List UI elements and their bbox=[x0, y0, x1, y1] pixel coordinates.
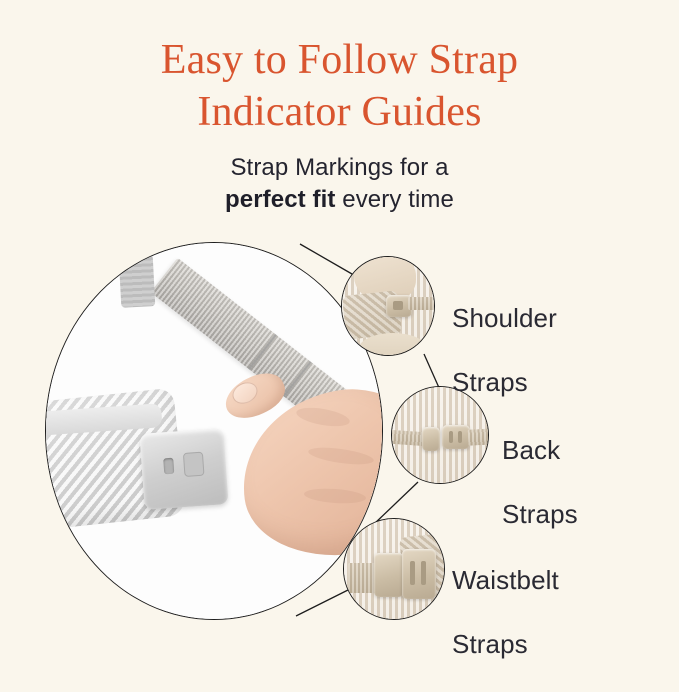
label-shoulder-line-2: Straps bbox=[452, 366, 557, 398]
strap-indicator-mark-2 bbox=[283, 361, 312, 397]
main-product-photo bbox=[45, 242, 383, 620]
back-buckle-slot-2 bbox=[458, 431, 462, 443]
page-title: Easy to Follow Strap Indicator Guides bbox=[0, 34, 679, 138]
shoulder-webbing bbox=[408, 297, 435, 310]
back-buckle-slot-1 bbox=[449, 431, 453, 443]
label-waistbelt-straps: Waistbelt Straps bbox=[452, 532, 559, 692]
callout-waistbelt-straps bbox=[343, 518, 445, 620]
label-back-line-2: Straps bbox=[502, 498, 578, 530]
label-waistbelt-line-1: Waistbelt bbox=[452, 564, 559, 596]
callout-shoulder-straps bbox=[341, 256, 435, 356]
buckle-slot-large bbox=[183, 452, 205, 477]
waistbelt-buckle bbox=[139, 428, 228, 510]
main-photo-canvas bbox=[46, 243, 382, 619]
page-title-line-2: Indicator Guides bbox=[90, 86, 589, 138]
page-subtitle: Strap Markings for a perfect fit every t… bbox=[0, 152, 679, 216]
page-title-line-1: Easy to Follow Strap bbox=[90, 34, 589, 86]
page-subtitle-emphasis: perfect fit bbox=[225, 186, 335, 213]
label-waistbelt-line-2: Straps bbox=[452, 628, 559, 660]
waistbelt-buckle-male bbox=[374, 553, 404, 597]
waistbelt-buckle-slot-1 bbox=[410, 561, 415, 585]
leader-line-back bbox=[424, 354, 440, 390]
page-subtitle-line-1: Strap Markings for a bbox=[0, 152, 679, 184]
waistbelt-buckle-female bbox=[402, 549, 436, 599]
page-subtitle-line-2: perfect fit every time bbox=[0, 184, 679, 216]
page-root: Easy to Follow Strap Indicator Guides St… bbox=[0, 0, 679, 679]
product-figure: Shoulder Straps Back Straps Waistbelt St… bbox=[0, 230, 679, 650]
page-subtitle-line-2-rest: every time bbox=[335, 186, 453, 213]
strap-indicator-mark-1 bbox=[248, 334, 277, 370]
waistbelt-buckle-slot-2 bbox=[421, 561, 426, 585]
back-buckle-male bbox=[422, 427, 440, 451]
waistbelt-edge-trim bbox=[45, 403, 163, 436]
label-back-line-1: Back bbox=[502, 434, 578, 466]
shoulder-buckle-slot bbox=[393, 301, 403, 310]
buckle-webbing-tail bbox=[119, 254, 156, 308]
buckle-slot-small bbox=[163, 458, 174, 475]
back-webbing-right bbox=[468, 428, 489, 445]
label-shoulder-line-1: Shoulder bbox=[452, 302, 557, 334]
header: Easy to Follow Strap Indicator Guides St… bbox=[0, 0, 679, 216]
